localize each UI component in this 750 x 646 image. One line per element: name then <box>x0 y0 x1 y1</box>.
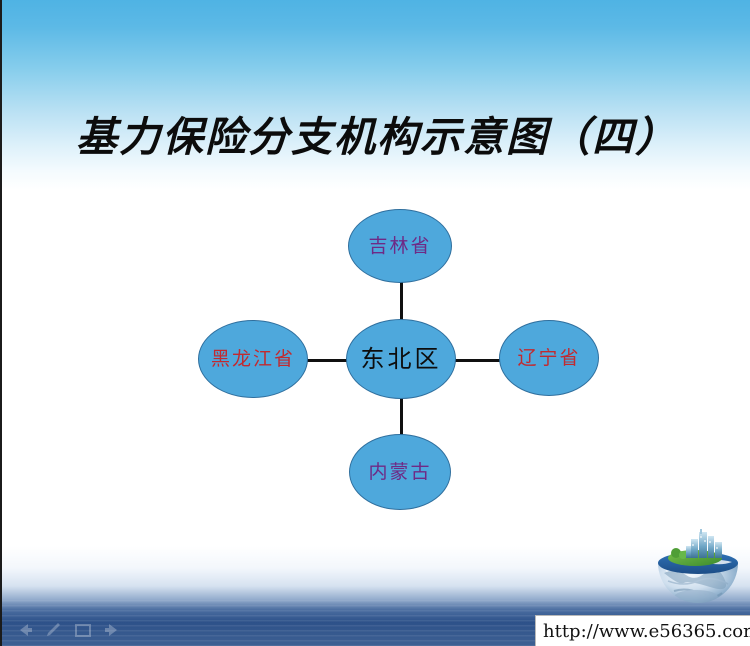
globe-city-logo <box>650 527 746 617</box>
node-label: 内蒙古 <box>368 463 431 482</box>
watermark-url-box: http://www.e56365.com <box>535 615 750 646</box>
node-inner-mongolia[interactable]: 内蒙古 <box>349 434 451 510</box>
node-jilin[interactable]: 吉林省 <box>348 209 452 283</box>
node-label: 黑龙江省 <box>211 350 295 369</box>
left-arrow-icon[interactable] <box>16 622 34 638</box>
node-label: 吉林省 <box>368 237 431 256</box>
node-heilongjiang[interactable]: 黑龙江省 <box>198 320 308 398</box>
slideshow-nav-controls[interactable] <box>16 619 120 641</box>
watermark-url-text: http://www.e56365.com <box>543 621 750 642</box>
presentation-slide: 基力保险分支机构示意图（四） 吉林省 黑龙江省 东北区 辽宁省 内蒙古 <box>0 0 750 646</box>
node-liaoning[interactable]: 辽宁省 <box>499 320 599 396</box>
pen-icon[interactable] <box>45 622 63 638</box>
menu-icon[interactable] <box>74 622 92 638</box>
node-label: 东北区 <box>361 347 442 371</box>
node-northeast-region[interactable]: 东北区 <box>346 319 456 399</box>
node-label: 辽宁省 <box>517 349 580 368</box>
org-chart-diagram: 吉林省 黑龙江省 东北区 辽宁省 内蒙古 <box>2 0 750 646</box>
right-arrow-icon[interactable] <box>103 622 121 638</box>
